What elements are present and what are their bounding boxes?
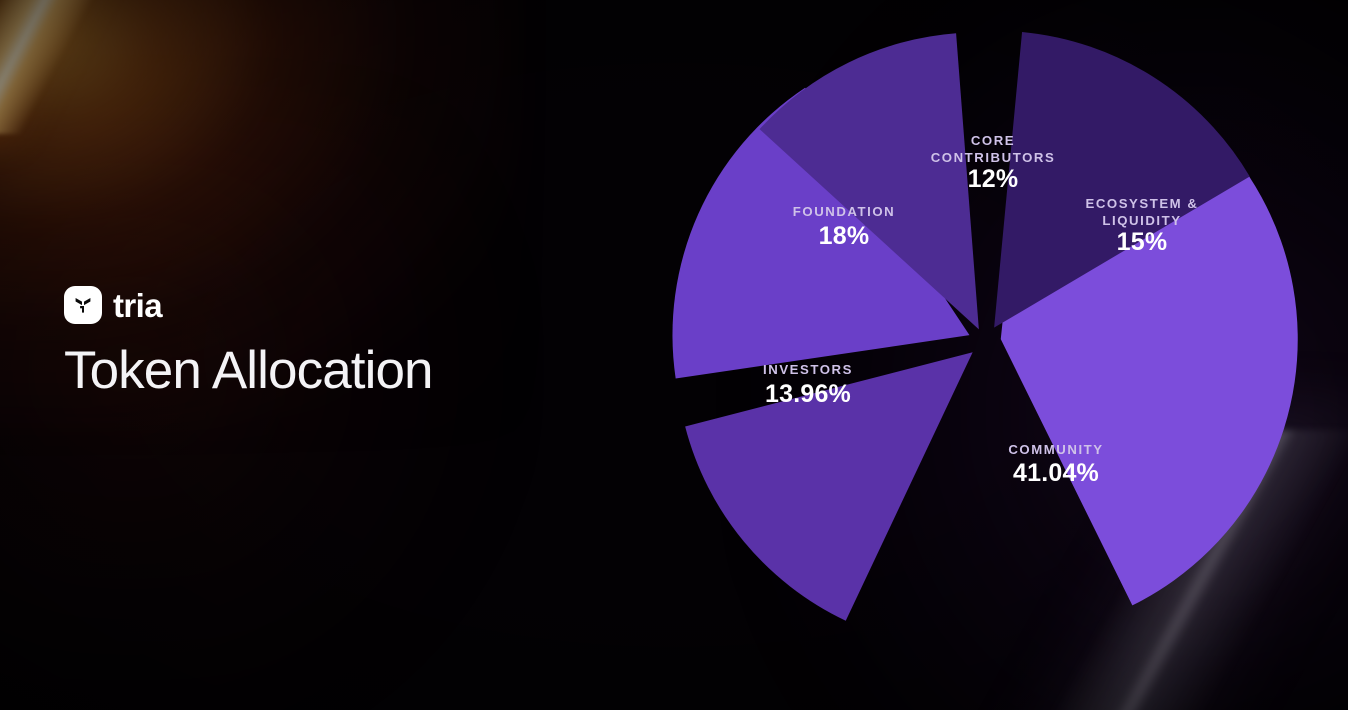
slide-canvas: tria Token Allocation COMMUNITY41.04%FOU… <box>0 0 1348 710</box>
pie-slice-layer <box>672 32 1297 621</box>
pie-svg: COMMUNITY41.04%FOUNDATION18%ECOSYSTEM &L… <box>684 41 1286 643</box>
page-title: Token Allocation <box>64 342 433 399</box>
pie-slice-label: INVESTORS <box>763 362 853 377</box>
pie-slice-value: 15% <box>1117 228 1168 256</box>
tria-logo-icon <box>64 286 102 324</box>
top-left-light-streak <box>0 0 268 134</box>
token-allocation-pie-chart: COMMUNITY41.04%FOUNDATION18%ECOSYSTEM &L… <box>684 41 1286 643</box>
logo-wordmark: tria <box>113 289 162 322</box>
pie-slice-value: 12% <box>968 165 1019 193</box>
logo-lockup[interactable]: tria <box>64 286 433 324</box>
warm-haze-glow <box>0 120 500 710</box>
pie-slice-label: COMMUNITY <box>1008 442 1103 457</box>
top-left-streak-bloom <box>0 0 260 150</box>
pie-slice-label: FOUNDATION <box>793 204 895 219</box>
pie-slice-value: 41.04% <box>1013 459 1099 487</box>
pie-slice-value: 13.96% <box>765 380 851 408</box>
brand-title-block: tria Token Allocation <box>64 286 433 399</box>
pie-slice-value: 18% <box>819 222 870 250</box>
